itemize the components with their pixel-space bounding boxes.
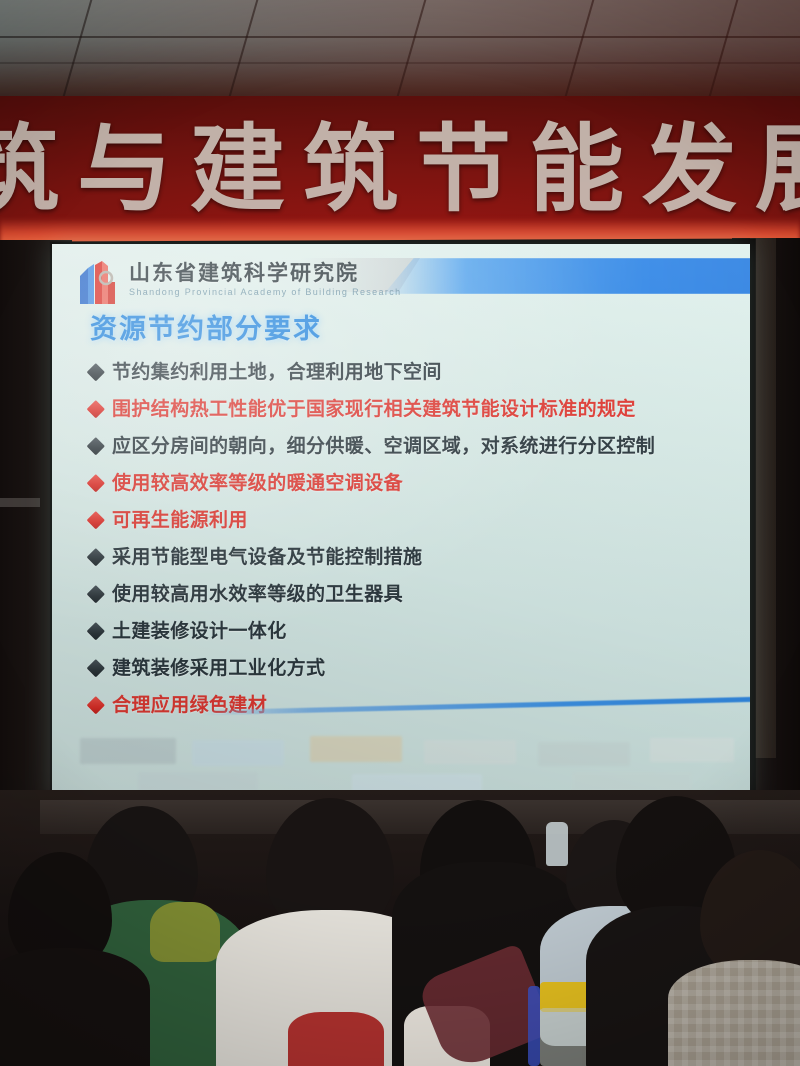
projected-slide: 山东省建筑科学研究院 Shandong Provincial Academy o… — [52, 244, 750, 800]
slide-bottom-block — [538, 742, 630, 766]
slide-bottom-block — [310, 736, 402, 762]
conference-room-photo: 筑与建筑节能发展 山东省建筑科学研究院 Sh — [0, 0, 800, 1066]
ceiling — [0, 0, 800, 100]
diamond-bullet-icon — [87, 585, 105, 603]
diamond-bullet-icon — [87, 659, 105, 677]
venue-banner: 筑与建筑节能发展 — [0, 96, 800, 244]
slide-bottom-block — [192, 740, 284, 766]
slide-bottom-block — [80, 738, 176, 764]
slide-bottom-block — [650, 738, 734, 762]
list-item: 合理应用绿色建材 — [90, 693, 730, 730]
organization-name-cn: 山东省建筑科学研究院 — [129, 260, 401, 285]
slide-bottom-block — [424, 740, 516, 764]
slide-bottom-block — [138, 772, 258, 792]
diamond-bullet-icon — [87, 474, 105, 492]
diamond-bullet-icon — [87, 363, 105, 381]
diamond-bullet-icon — [87, 622, 105, 640]
bullet-list: 节约集约利用土地，合理利用地下空间 围护结构热工性能优于国家现行相关建筑节能设计… — [90, 360, 730, 730]
bullet-label: 使用较高用水效率等级的卫生器具 — [112, 582, 403, 606]
slide-bottom-block — [572, 772, 692, 792]
organization-name-en: Shandong Provincial Academy of Building … — [129, 287, 401, 298]
bullet-label: 节约集约利用土地，合理利用地下空间 — [112, 360, 442, 384]
organization-logo: 山东省建筑科学研究院 Shandong Provincial Academy o… — [74, 258, 401, 306]
slide-header-blue-bar — [384, 258, 750, 294]
diamond-bullet-icon — [87, 696, 105, 714]
list-item: 使用较高用水效率等级的卫生器具 — [90, 582, 730, 619]
list-item: 节约集约利用土地，合理利用地下空间 — [90, 360, 730, 397]
bullet-label: 使用较高效率等级的暖通空调设备 — [112, 471, 403, 495]
bullet-label: 围护结构热工性能优于国家现行相关建筑节能设计标准的规定 — [112, 397, 636, 421]
building-tower-logo-icon — [74, 258, 120, 306]
bullet-label: 采用节能型电气设备及节能控制措施 — [112, 545, 422, 569]
list-item: 可再生能源利用 — [90, 508, 730, 545]
list-item: 应区分房间的朝向，细分供暖、空调区域，对系统进行分区控制 — [90, 434, 730, 471]
diamond-bullet-icon — [87, 511, 105, 529]
diamond-bullet-icon — [87, 548, 105, 566]
list-item: 采用节能型电气设备及节能控制措施 — [90, 545, 730, 582]
slide-title: 资源节约部分要求 — [90, 314, 322, 346]
checkered-shirt-body — [668, 960, 800, 1066]
bullet-label: 土建装修设计一体化 — [112, 619, 287, 643]
bullet-label: 可再生能源利用 — [112, 508, 248, 532]
list-item: 土建装修设计一体化 — [90, 619, 730, 656]
list-item: 使用较高效率等级的暖通空调设备 — [90, 471, 730, 508]
list-item: 围护结构热工性能优于国家现行相关建筑节能设计标准的规定 — [90, 397, 730, 434]
venue-banner-text: 筑与建筑节能发展 — [0, 104, 800, 236]
list-item: 建筑装修采用工业化方式 — [90, 656, 730, 693]
bullet-label: 建筑装修采用工业化方式 — [112, 656, 325, 680]
diamond-bullet-icon — [87, 400, 105, 418]
bullet-label: 应区分房间的朝向，细分供暖、空调区域，对系统进行分区控制 — [112, 434, 655, 458]
diamond-bullet-icon — [87, 437, 105, 455]
